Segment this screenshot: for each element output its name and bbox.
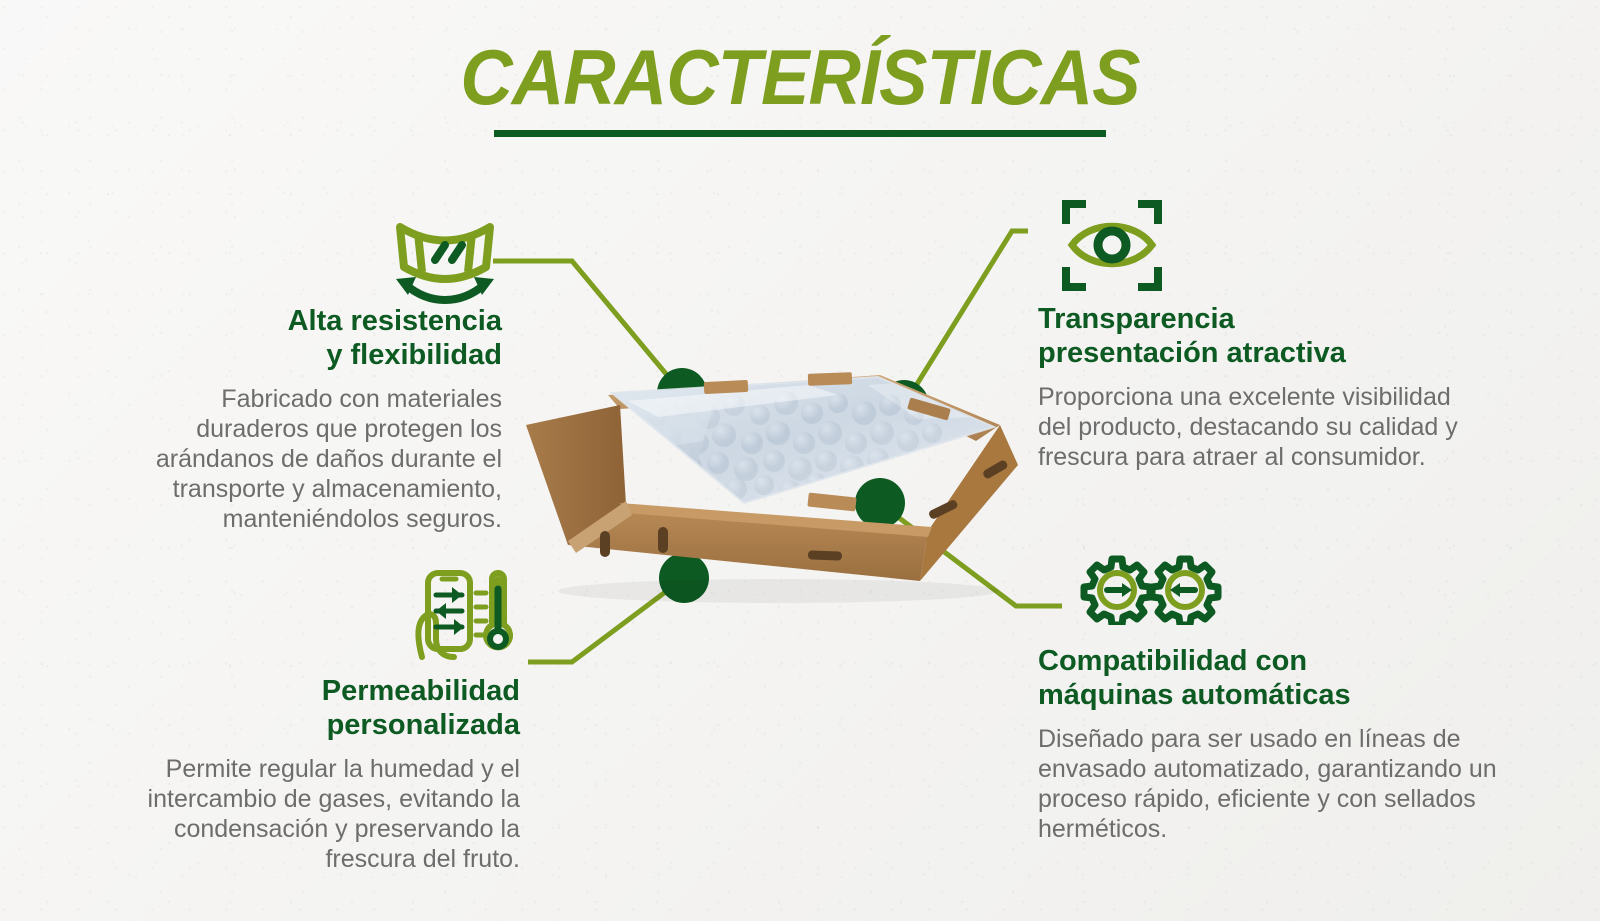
eye-focus-icon: [1062, 198, 1162, 298]
heading-line-2: presentación atractiva: [1038, 337, 1346, 369]
phone-thermometer-icon: [410, 565, 515, 665]
feature-block-resistencia: Alta resistencia y flexibilidad Fabricad…: [110, 305, 502, 534]
title-underline: [494, 130, 1106, 137]
heading-line-2: y flexibilidad: [326, 339, 502, 371]
feature-block-permeabilidad: Permeabilidad personalizada Permite regu…: [110, 675, 520, 874]
heading-line-2: personalizada: [327, 709, 520, 741]
heading-line-1: Alta resistencia: [288, 305, 502, 337]
page-title: CARACTERÍSTICAS: [56, 38, 1544, 116]
heading-line-2: máquinas automáticas: [1038, 679, 1351, 711]
feature-body-compatibilidad: Diseñado para ser usado en líneas de env…: [1038, 724, 1498, 844]
feature-block-transparencia: Transparencia presentación atractiva Pro…: [1038, 303, 1488, 472]
feature-heading-transparencia: Transparencia presentación atractiva: [1038, 303, 1488, 370]
feature-heading-resistencia: Alta resistencia y flexibilidad: [110, 305, 502, 372]
blueberry-tray-photo: [508, 355, 1036, 610]
feature-heading-compatibilidad: Compatibilidad con máquinas automáticas: [1038, 645, 1498, 712]
feature-heading-permeabilidad: Permeabilidad personalizada: [110, 675, 520, 742]
feature-body-resistencia: Fabricado con materiales duraderos que p…: [110, 384, 502, 534]
heading-line-1: Transparencia: [1038, 303, 1235, 335]
feature-body-permeabilidad: Permite regular la humedad y el intercam…: [110, 754, 520, 874]
flexible-sheet-icon: [390, 215, 500, 315]
feature-block-compatibilidad: Compatibilidad con máquinas automáticas …: [1038, 645, 1498, 844]
feature-body-transparencia: Proporciona una excelente visibilidad de…: [1038, 382, 1488, 472]
heading-line-1: Compatibilidad con: [1038, 645, 1307, 677]
two-gears-icon: [1076, 555, 1226, 630]
title-block: CARACTERÍSTICAS: [0, 38, 1600, 137]
heading-line-1: Permeabilidad: [322, 675, 520, 707]
